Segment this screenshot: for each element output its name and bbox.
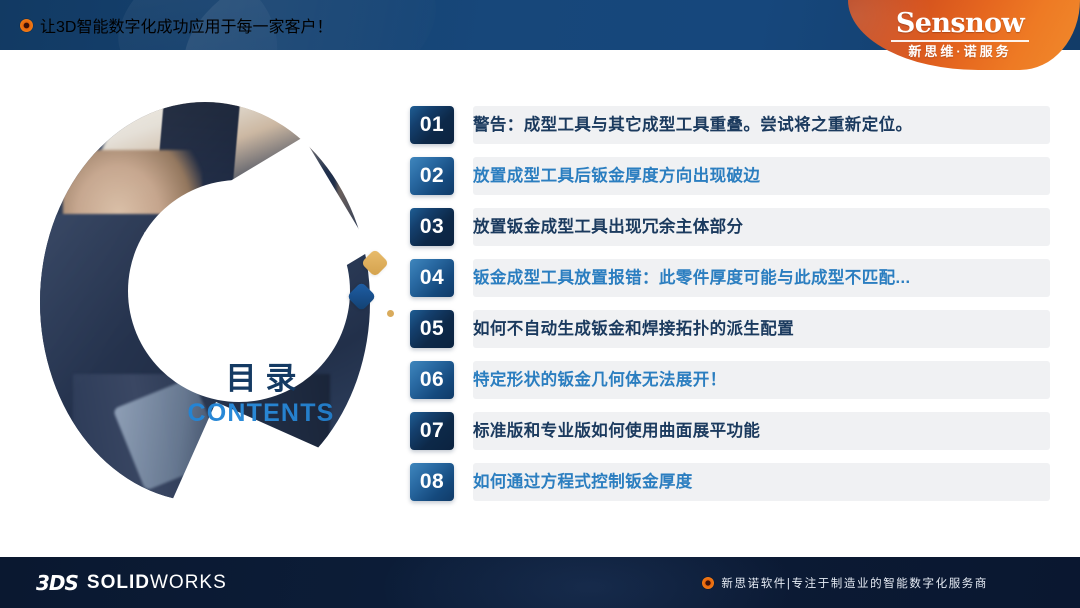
list-item[interactable]: 03 放置钣金成型工具出现冗余主体部分 [410, 208, 1050, 246]
item-number-badge[interactable]: 01 [410, 106, 454, 144]
item-label[interactable]: 特定形状的钣金几何体无法展开！ [473, 361, 727, 399]
brand-logo-badge: Sensnow 新思维·诺服务 [848, 0, 1080, 70]
solidworks-wordmark: SOLIDWORKS [87, 573, 227, 592]
brand-divider [891, 40, 1029, 42]
solidworks-logo: 3DS SOLIDWORKS [36, 557, 227, 608]
footer-tagline-group: 新思诺软件|专注于制造业的智能数字化服务商 [702, 557, 988, 608]
orange-ring-icon [702, 577, 714, 589]
item-number-badge[interactable]: 03 [410, 208, 454, 246]
item-number-badge[interactable]: 04 [410, 259, 454, 297]
item-label[interactable]: 如何不自动生成钣金和焊接拓扑的派生配置 [473, 310, 794, 348]
item-label[interactable]: 警告：成型工具与其它成型工具重叠。尝试将之重新定位。 [473, 106, 912, 144]
list-item[interactable]: 01 警告：成型工具与其它成型工具重叠。尝试将之重新定位。 [410, 106, 1050, 144]
item-number-badge[interactable]: 08 [410, 463, 454, 501]
item-label[interactable]: 放置成型工具后钣金厚度方向出现破边 [473, 157, 760, 195]
orange-ring-icon [20, 19, 33, 32]
solidworks-wordmark-light: WORKS [150, 572, 227, 593]
item-label[interactable]: 如何通过方程式控制钣金厚度 [473, 463, 693, 501]
list-item[interactable]: 08 如何通过方程式控制钣金厚度 [410, 463, 1050, 501]
item-number-badge[interactable]: 05 [410, 310, 454, 348]
item-label[interactable]: 放置钣金成型工具出现冗余主体部分 [473, 208, 743, 246]
item-number-badge[interactable]: 06 [410, 361, 454, 399]
dassault-3ds-icon: 3DS [36, 573, 78, 593]
list-item[interactable]: 06 特定形状的钣金几何体无法展开！ [410, 361, 1050, 399]
list-item[interactable]: 05 如何不自动生成钣金和焊接拓扑的派生配置 [410, 310, 1050, 348]
slide: 让3D智能数字化成功应用于每一家客户！ Sensnow 新思维·诺服务 [0, 0, 1080, 608]
footer-tagline: 新思诺软件|专注于制造业的智能数字化服务商 [721, 575, 988, 591]
footer-bar: 3DS SOLIDWORKS 新思诺软件|专注于制造业的智能数字化服务商 [0, 557, 1080, 608]
list-item[interactable]: 02 放置成型工具后钣金厚度方向出现破边 [410, 157, 1050, 195]
gold-dot-icon [387, 310, 394, 317]
list-item[interactable]: 04 钣金成型工具放置报错：此零件厚度可能与此成型不匹配... [410, 259, 1050, 297]
contents-list: 01 警告：成型工具与其它成型工具重叠。尝试将之重新定位。 02 放置成型工具后… [410, 106, 1050, 514]
item-number-badge[interactable]: 02 [410, 157, 454, 195]
cover-title-cn: 目录 [156, 362, 366, 396]
brand-subtitle: 新思维·诺服务 [908, 45, 1011, 58]
cover-title-en: CONTENTS [156, 398, 366, 428]
brand-name: Sensnow [896, 10, 1024, 37]
header-tagline: 让3D智能数字化成功应用于每一家客户！ [40, 13, 332, 37]
brand-logo-wrap: Sensnow 新思维·诺服务 [848, 10, 1072, 58]
item-number-badge[interactable]: 07 [410, 412, 454, 450]
item-label[interactable]: 标准版和专业版如何使用曲面展平功能 [473, 412, 760, 450]
list-item[interactable]: 07 标准版和专业版如何使用曲面展平功能 [410, 412, 1050, 450]
cover-graphic: 目录 CONTENTS [36, 92, 388, 524]
cover-title-group: 目录 CONTENTS [156, 362, 366, 428]
header-tagline-group: 让3D智能数字化成功应用于每一家客户！ [20, 0, 332, 50]
item-label[interactable]: 钣金成型工具放置报错：此零件厚度可能与此成型不匹配... [473, 259, 910, 297]
solidworks-wordmark-bold: SOLID [87, 572, 150, 593]
c-shape-photo-ring [40, 102, 370, 502]
